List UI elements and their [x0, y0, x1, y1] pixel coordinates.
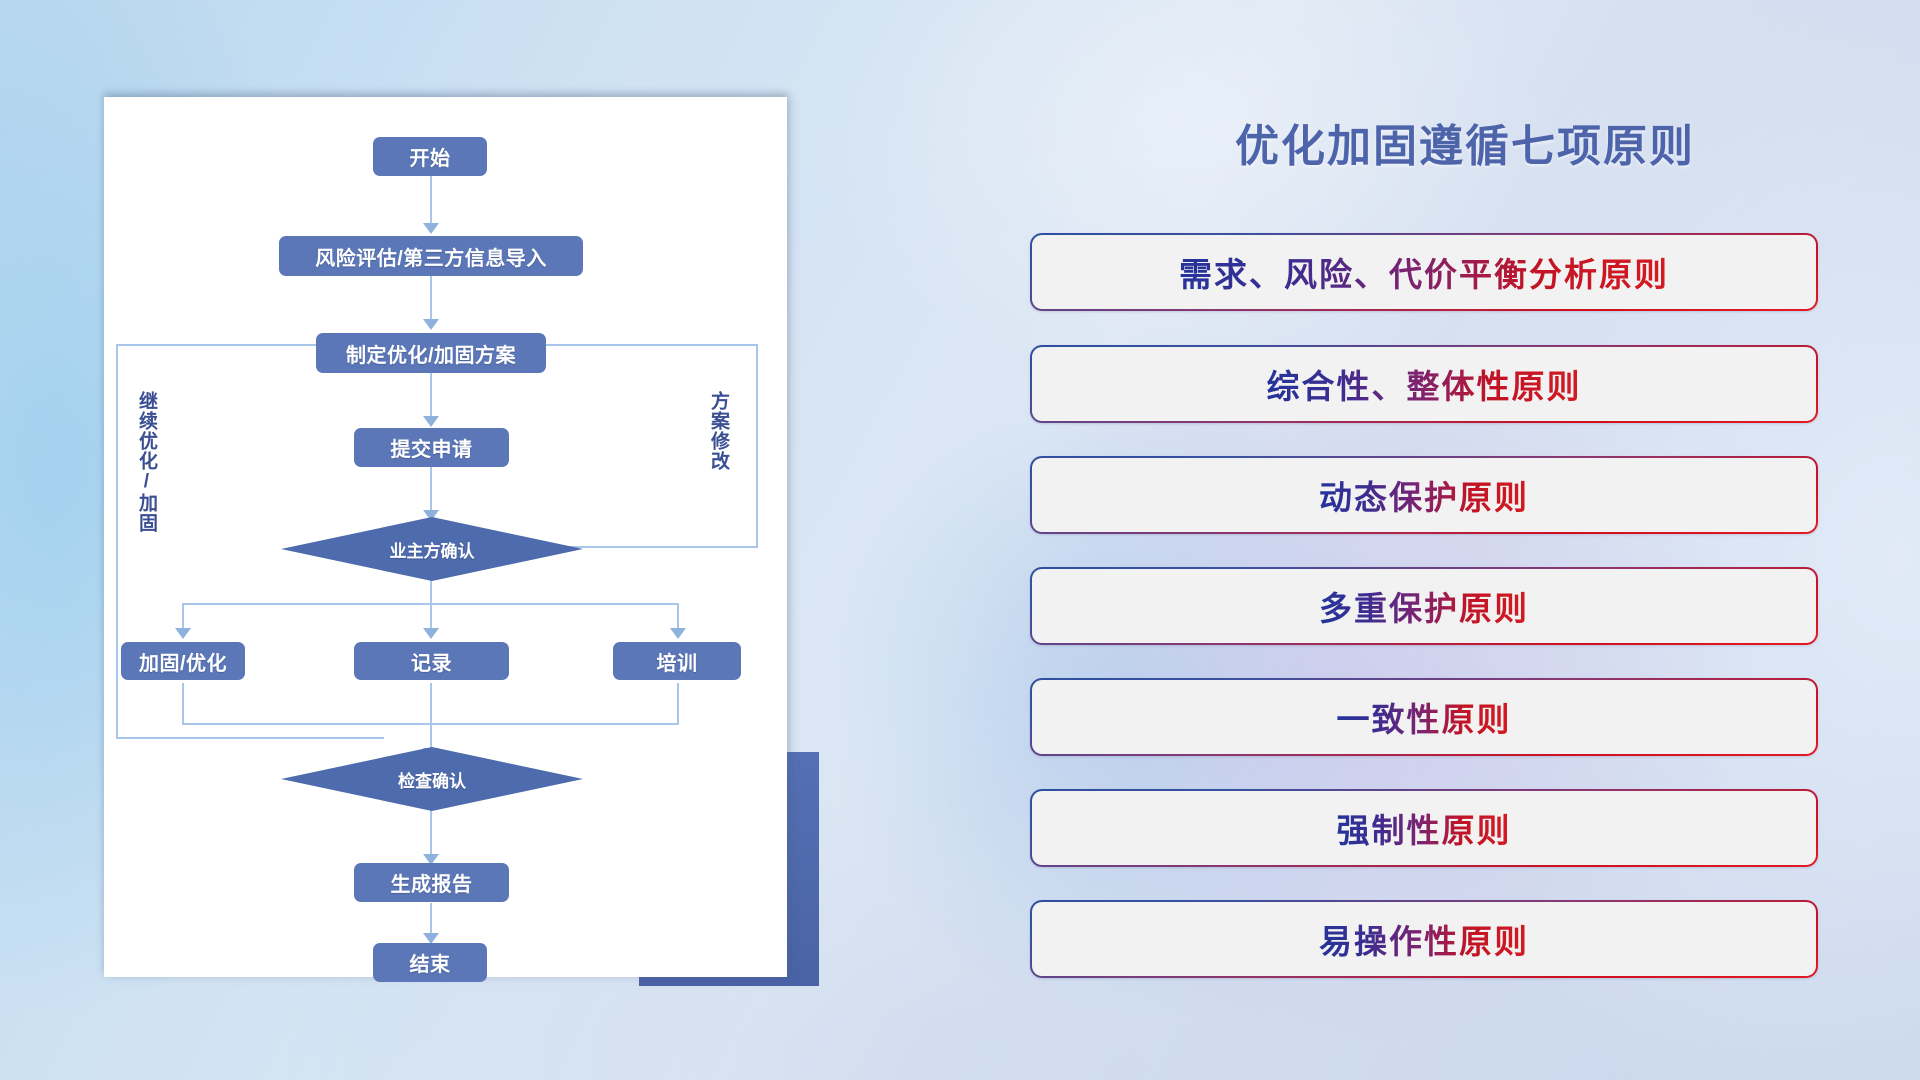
connector-left-to-plan — [116, 344, 328, 346]
flow-node-risk-assessment[interactable]: 风险评估/第三方信息导入 — [279, 236, 583, 276]
principle-label: 易操作性原则 — [1319, 915, 1529, 963]
principle-card-5[interactable]: 一致性原则 — [1030, 678, 1818, 756]
edge-label-plan-revision: 方案修改 — [708, 391, 728, 501]
principles-panel: 优化加固遵循七项原则 需求、风险、代价平衡分析原则 综合性、整体性原则 动态保护… — [1010, 0, 1920, 1080]
flowchart-card: 开始 风险评估/第三方信息导入 制定优化/加固方案 提交申请 业主方确认 加固/… — [104, 97, 787, 977]
arrowhead-start-risk — [423, 223, 439, 234]
connector-check-report — [430, 807, 432, 859]
panel-title: 优化加固遵循七项原则 — [1010, 110, 1920, 174]
principle-label: 一致性原则 — [1337, 693, 1512, 741]
connector-left-down — [182, 683, 184, 724]
connector-right-up — [756, 344, 758, 548]
flow-node-end[interactable]: 结束 — [373, 943, 487, 982]
principle-card-1[interactable]: 需求、风险、代价平衡分析原则 — [1030, 233, 1818, 311]
connector-owner-bus — [430, 577, 432, 604]
connector-right-to-plan — [531, 344, 758, 346]
principle-card-4[interactable]: 多重保护原则 — [1030, 567, 1818, 645]
principle-card-6[interactable]: 强制性原则 — [1030, 789, 1818, 867]
connector-plan-submit — [430, 369, 432, 421]
edge-label-continue-optimize: 继续优化/加固 — [136, 391, 156, 551]
connector-mid-down — [430, 683, 432, 724]
arrowhead-bus-left — [175, 628, 191, 639]
flow-node-generate-report[interactable]: 生成报告 — [354, 863, 509, 902]
connector-left-up — [116, 344, 118, 739]
principle-card-2[interactable]: 综合性、整体性原则 — [1030, 345, 1818, 423]
connector-check-left — [116, 737, 384, 739]
principle-card-7[interactable]: 易操作性原则 — [1030, 900, 1818, 978]
flow-node-make-plan[interactable]: 制定优化/加固方案 — [316, 333, 546, 373]
flow-node-owner-confirm[interactable]: 业主方确认 — [281, 517, 583, 581]
arrowhead-plan-submit — [423, 416, 439, 427]
flow-node-reinforce-optimize[interactable]: 加固/优化 — [121, 642, 245, 680]
arrowhead-bus-mid — [423, 628, 439, 639]
connector-right-down — [677, 683, 679, 724]
principle-label: 综合性、整体性原则 — [1267, 360, 1582, 408]
flow-node-record[interactable]: 记录 — [354, 642, 509, 680]
flow-node-submit-application[interactable]: 提交申请 — [354, 428, 509, 467]
connector-submit-owner — [430, 463, 432, 515]
arrowhead-bus-right — [670, 628, 686, 639]
flow-node-training[interactable]: 培训 — [613, 642, 741, 680]
arrowhead-risk-plan — [423, 319, 439, 330]
connector-start-risk — [430, 173, 432, 228]
principle-label: 需求、风险、代价平衡分析原则 — [1179, 248, 1669, 296]
connector-risk-plan — [430, 272, 432, 324]
principle-label: 动态保护原则 — [1319, 471, 1529, 519]
flow-node-start[interactable]: 开始 — [373, 137, 487, 176]
principle-label: 强制性原则 — [1337, 804, 1512, 852]
principle-label: 多重保护原则 — [1319, 582, 1529, 630]
principle-card-3[interactable]: 动态保护原则 — [1030, 456, 1818, 534]
flow-node-check-confirm[interactable]: 检查确认 — [281, 747, 583, 811]
